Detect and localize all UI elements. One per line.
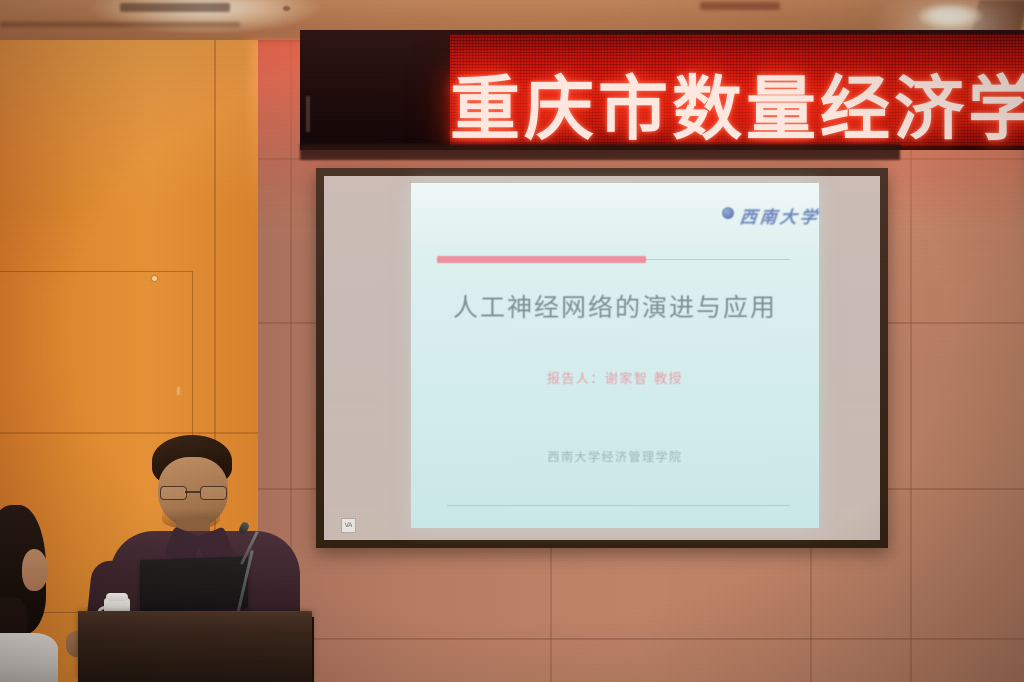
- attendee-figure: [0, 505, 60, 682]
- speaker-glasses-icon: [160, 486, 226, 498]
- led-banner-left-housing: [300, 30, 450, 150]
- slide-accent-bar: [437, 256, 646, 263]
- led-banner: 重庆市数量经济学会: [300, 30, 1024, 150]
- slide-presenter: 报告人：谢家智 教授: [411, 368, 819, 387]
- led-banner-edge-highlight: [306, 96, 310, 132]
- led-banner-underframe: [300, 144, 900, 160]
- wall-mark: [177, 387, 180, 395]
- laptop-on-podium: [140, 556, 248, 612]
- wall-screw-icon: [152, 276, 157, 281]
- podium: [78, 613, 312, 682]
- ceiling-slot-left: [120, 3, 230, 12]
- lecture-hall-photo: 重庆市数量经济学会 VA 西南大学 人工神经网络的演进与应用 报告人：谢家智 教…: [0, 0, 1024, 682]
- ceiling-light-icon: [918, 4, 982, 28]
- wall-seam: [250, 638, 1024, 640]
- led-banner-text: 重庆市数量经济学会: [450, 74, 1024, 144]
- slide-bottom-line: [447, 505, 790, 506]
- glasses-lens-right: [200, 486, 227, 500]
- ceiling-vent: [0, 22, 240, 27]
- university-logo-icon: [722, 207, 734, 219]
- attendee-face: [22, 549, 48, 591]
- glasses-lens-left: [160, 486, 187, 500]
- thermos-cup-lid: [106, 593, 128, 601]
- university-logo-text: 西南大学: [739, 203, 822, 228]
- projected-slide: [411, 183, 819, 528]
- ceiling-slot-right: [700, 2, 780, 10]
- glasses-bridge: [185, 491, 200, 493]
- slide-organization: 西南大学经济管理学院: [411, 448, 819, 465]
- attendee-clothing: [0, 633, 58, 682]
- slide-title: 人工神经网络的演进与应用: [411, 288, 819, 324]
- ceiling-fixture-dot: [283, 6, 290, 11]
- screen-corner-label: VA: [341, 518, 356, 533]
